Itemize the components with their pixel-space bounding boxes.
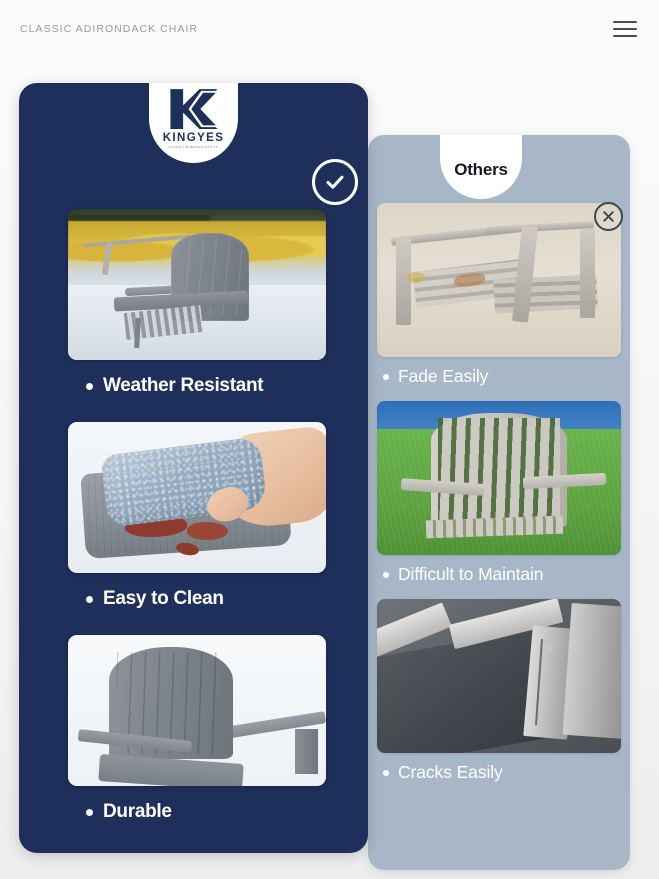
list-item: Difficult to Maintain — [368, 401, 630, 596]
kingyes-k-logo-icon — [165, 87, 223, 131]
kingyes-feature-label: Easy to Clean — [68, 573, 320, 629]
list-item: Durable — [19, 635, 368, 842]
list-item: Cracks Easily — [368, 599, 630, 794]
others-feature-image — [377, 401, 621, 555]
list-item: Weather Resistant — [19, 209, 368, 416]
kingyes-panel: Weather Resistant Easy to Clean — [19, 83, 368, 853]
label-text: Weather Resistant — [103, 375, 263, 397]
hamburger-bar — [613, 28, 637, 30]
bullet-icon — [383, 572, 389, 578]
list-item: Easy to Clean — [19, 422, 368, 629]
label-text: Easy to Clean — [103, 588, 224, 610]
label-text: Fade Easily — [398, 366, 488, 387]
others-feature-label: Cracks Easily — [377, 753, 621, 794]
kingyes-wordmark: KINGYES — [163, 132, 225, 144]
kingyes-feature-label: Durable — [68, 786, 320, 842]
others-feature-list: Fade Easily Difficult to Maintain — [368, 203, 630, 797]
bullet-icon — [86, 596, 93, 603]
bullet-icon — [383, 770, 389, 776]
kingyes-feature-image — [68, 635, 326, 786]
others-feature-image — [377, 599, 621, 753]
others-feature-label: Fade Easily — [377, 357, 621, 398]
hamburger-bar — [613, 35, 637, 37]
check-circle-icon[interactable] — [312, 159, 358, 205]
close-circle-icon[interactable] — [594, 202, 623, 231]
hamburger-bar — [613, 21, 637, 23]
label-text: Difficult to Maintain — [398, 564, 543, 585]
hamburger-menu-icon[interactable] — [613, 21, 637, 37]
others-badge-label: Others — [454, 160, 508, 180]
label-text: Durable — [103, 801, 172, 823]
page-header: CLASSIC ADIRONDACK CHAIR — [0, 0, 659, 58]
kingyes-feature-image — [68, 209, 326, 360]
kingyes-feature-list: Weather Resistant Easy to Clean — [19, 209, 368, 848]
others-panel: Fade Easily Difficult to Maintain — [368, 135, 630, 870]
kingyes-feature-label: Weather Resistant — [68, 360, 320, 416]
kingyes-feature-image — [68, 422, 326, 573]
kingyes-tagline: CHOOSE THE BETTER WITH US — [169, 146, 219, 149]
label-text: Cracks Easily — [398, 762, 503, 783]
page-title: CLASSIC ADIRONDACK CHAIR — [20, 23, 198, 35]
comparison-stage: Fade Easily Difficult to Maintain — [0, 58, 659, 879]
list-item: Fade Easily — [368, 203, 630, 398]
bullet-icon — [383, 374, 389, 380]
bullet-icon — [86, 383, 93, 390]
bullet-icon — [86, 809, 93, 816]
others-feature-image — [377, 203, 621, 357]
others-feature-label: Difficult to Maintain — [377, 555, 621, 596]
